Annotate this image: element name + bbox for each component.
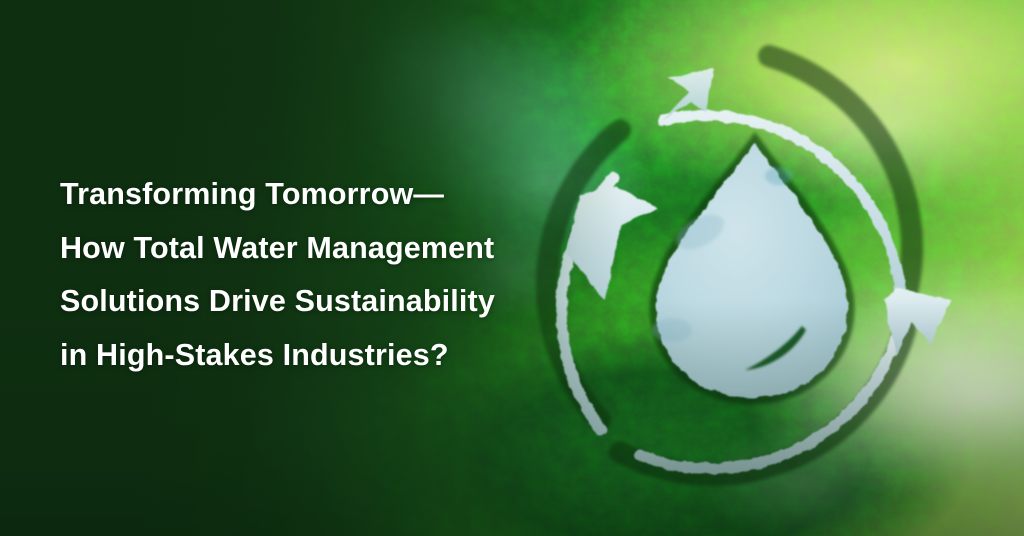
droplet-water-shading bbox=[652, 167, 793, 342]
headline-line-3: Solutions Drive Sustainability bbox=[60, 275, 580, 329]
leaf-crescent-icon bbox=[745, 326, 806, 370]
recycle-arrow-right bbox=[884, 288, 951, 356]
headline-line-1: Transforming Tomorrow— bbox=[60, 168, 580, 222]
water-droplet-lake bbox=[656, 143, 848, 398]
hero-banner: Transforming Tomorrow— How Total Water M… bbox=[0, 0, 1024, 536]
ring-shore-shadow bbox=[547, 56, 912, 475]
headline-line-2: How Total Water Management bbox=[60, 222, 580, 276]
droplet-shore-shadow bbox=[656, 143, 848, 398]
recycle-ring-river bbox=[561, 115, 900, 468]
headline-line-4: in High-Stakes Industries? bbox=[60, 329, 580, 383]
recycle-arrow-top bbox=[663, 68, 714, 120]
headline: Transforming Tomorrow— How Total Water M… bbox=[60, 168, 580, 382]
